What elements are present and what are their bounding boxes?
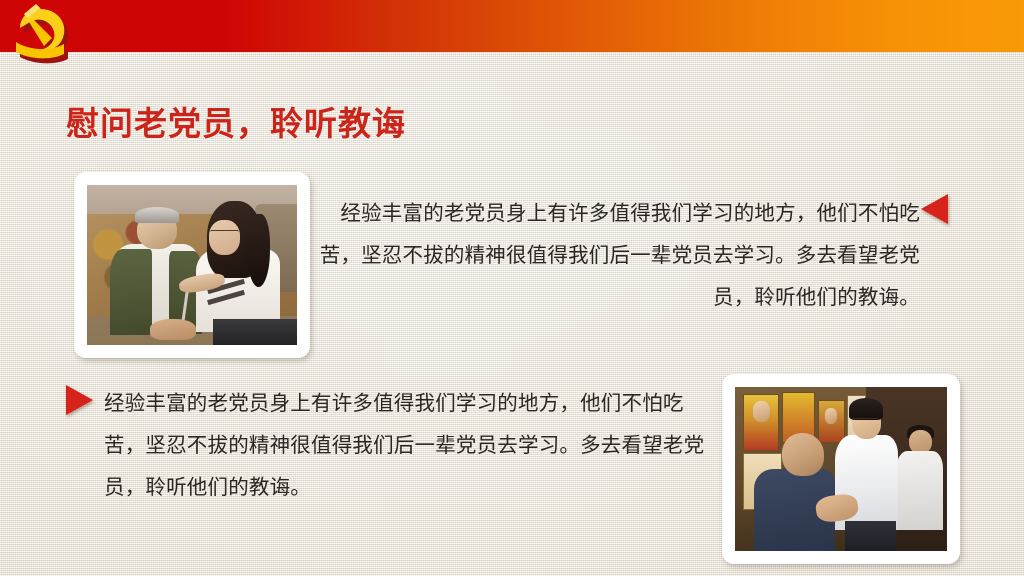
paragraph-bottom: 经验丰富的老党员身上有许多值得我们学习的地方，他们不怕吃苦，坚忍不拔的精神很值得… [104, 383, 716, 509]
cpc-hammer-sickle-emblem [6, 0, 90, 70]
photo2-poster-right [818, 400, 845, 443]
page-title: 慰问老党员，聆听教诲 [66, 97, 406, 145]
photo1-nurse-ponytail [247, 214, 270, 288]
photo2-elder-head [782, 433, 824, 476]
photo2-official-hair [849, 398, 883, 419]
photo-image-2 [735, 387, 947, 551]
photo2-official-glasses [852, 418, 880, 426]
photo1-nurse-trousers [213, 319, 297, 345]
photo1-nurse-glasses [210, 230, 239, 237]
photo-image-1 [87, 185, 297, 345]
photo1-elder-hands [150, 319, 196, 340]
photo1-elder-hair [135, 207, 179, 223]
photo1-nurse-face [209, 220, 241, 255]
photo-elderly-man-health-check [74, 172, 310, 358]
slide-root: 慰问老党员，聆听教诲 经验丰富的老党员身上有许多值得我们学习的地方， [0, 0, 1024, 576]
photo2-poster-left [743, 394, 779, 452]
photo2-official-trousers [845, 521, 896, 551]
photo2-bystander-shirt [896, 451, 943, 530]
photo1-elder-vest-left [110, 249, 152, 335]
paragraph-top: 经验丰富的老党员身上有许多值得我们学习的地方，他们不怕吃苦，坚忍不拔的精神很值得… [318, 193, 920, 319]
photo-official-handshake-elderly [722, 374, 960, 564]
photo2-poster-portrait-1 [753, 401, 771, 422]
photo2-poster-portrait-2 [825, 408, 837, 424]
left-pointing-triangle-icon [921, 194, 948, 224]
right-pointing-triangle-icon [66, 385, 93, 415]
header-bar [0, 0, 1024, 52]
